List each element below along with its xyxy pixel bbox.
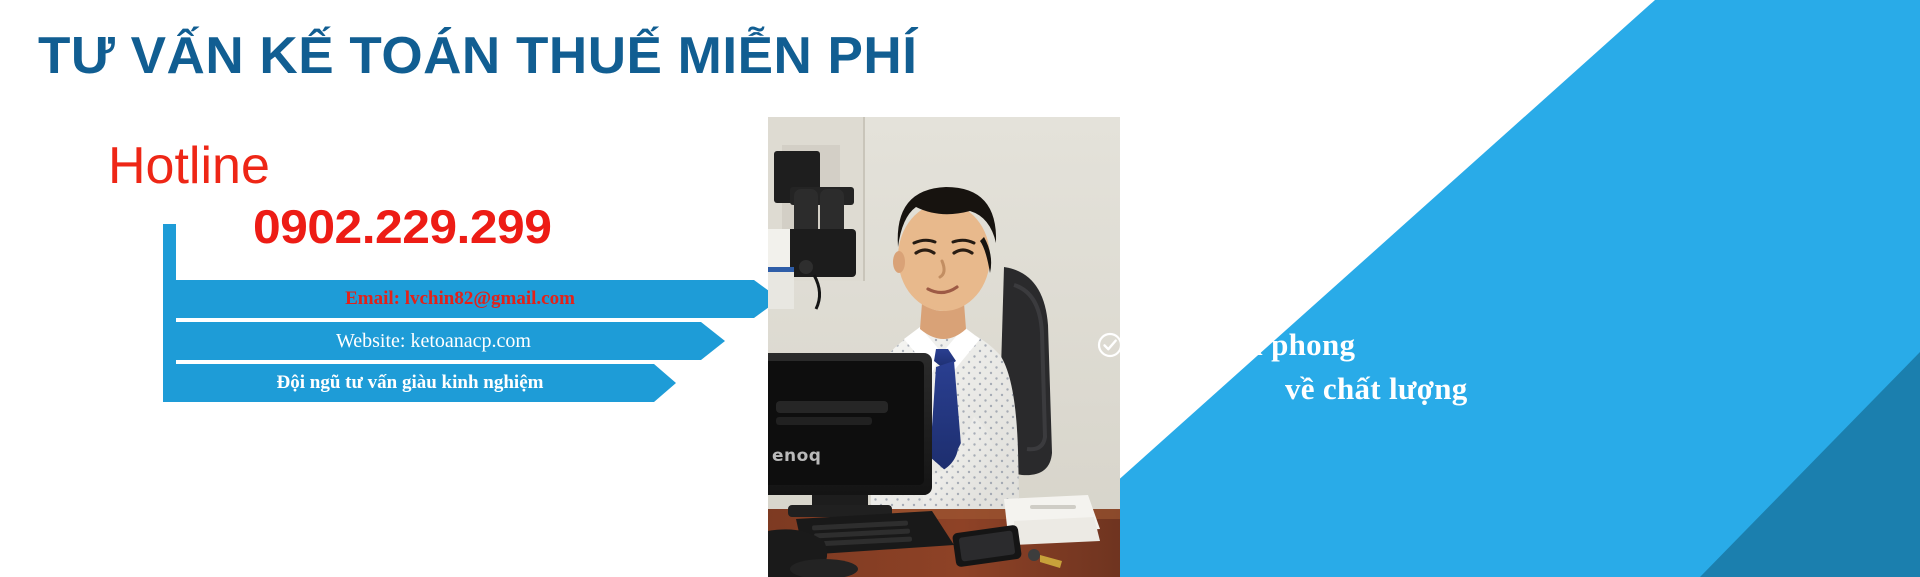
benefit-label: Uy tín [1171,282,1255,322]
circled-check-icon [1172,245,1198,271]
circled-check-icon [1136,289,1162,315]
ribbon-website[interactable]: Website: ketoanacp.com [176,322,701,360]
ribbon-arrow-tip [701,322,725,360]
left-accent-bar [163,224,176,402]
svg-text:enoq: enoq [772,446,821,466]
benefit-item-luon-tien-phong: Luôn tiên phong [1097,325,1685,365]
benefits-list: Tận tâm Uy tín Luôn tiên phong về chất l… [1125,238,1685,409]
blue-panel-corner-shadow [1700,352,1920,577]
ribbon-email[interactable]: Email: lvchin82@gmail.com [176,280,754,318]
ribbon-team: Đội ngũ tư vấn giàu kinh nghiệm [176,364,654,402]
ribbon-arrow-tip [654,364,676,402]
benefit-item-ve-chat-luong: về chất lượng [1285,369,1685,409]
benefit-label: Tận tâm [1207,238,1322,278]
benefit-label: Luôn tiên phong [1132,325,1355,365]
email-text: Email: lvchin82@gmail.com [345,288,585,310]
hotline-label: Hotline [108,140,270,192]
team-text: Đội ngũ tư vấn giàu kinh nghiệm [277,372,554,394]
website-text: Website: ketoanacp.com [336,330,541,353]
circled-check-icon [1097,332,1123,358]
benefit-item-uy-tin: Uy tín [1136,282,1685,322]
consultant-at-desk-photo: enoq [768,117,1120,577]
hotline-phone-number[interactable]: 0902.229.299 [253,203,551,250]
benefit-item-tan-tam: Tận tâm [1172,238,1685,278]
page-title: TƯ VẤN KẾ TOÁN THUẾ MIỄN PHÍ [38,26,917,86]
